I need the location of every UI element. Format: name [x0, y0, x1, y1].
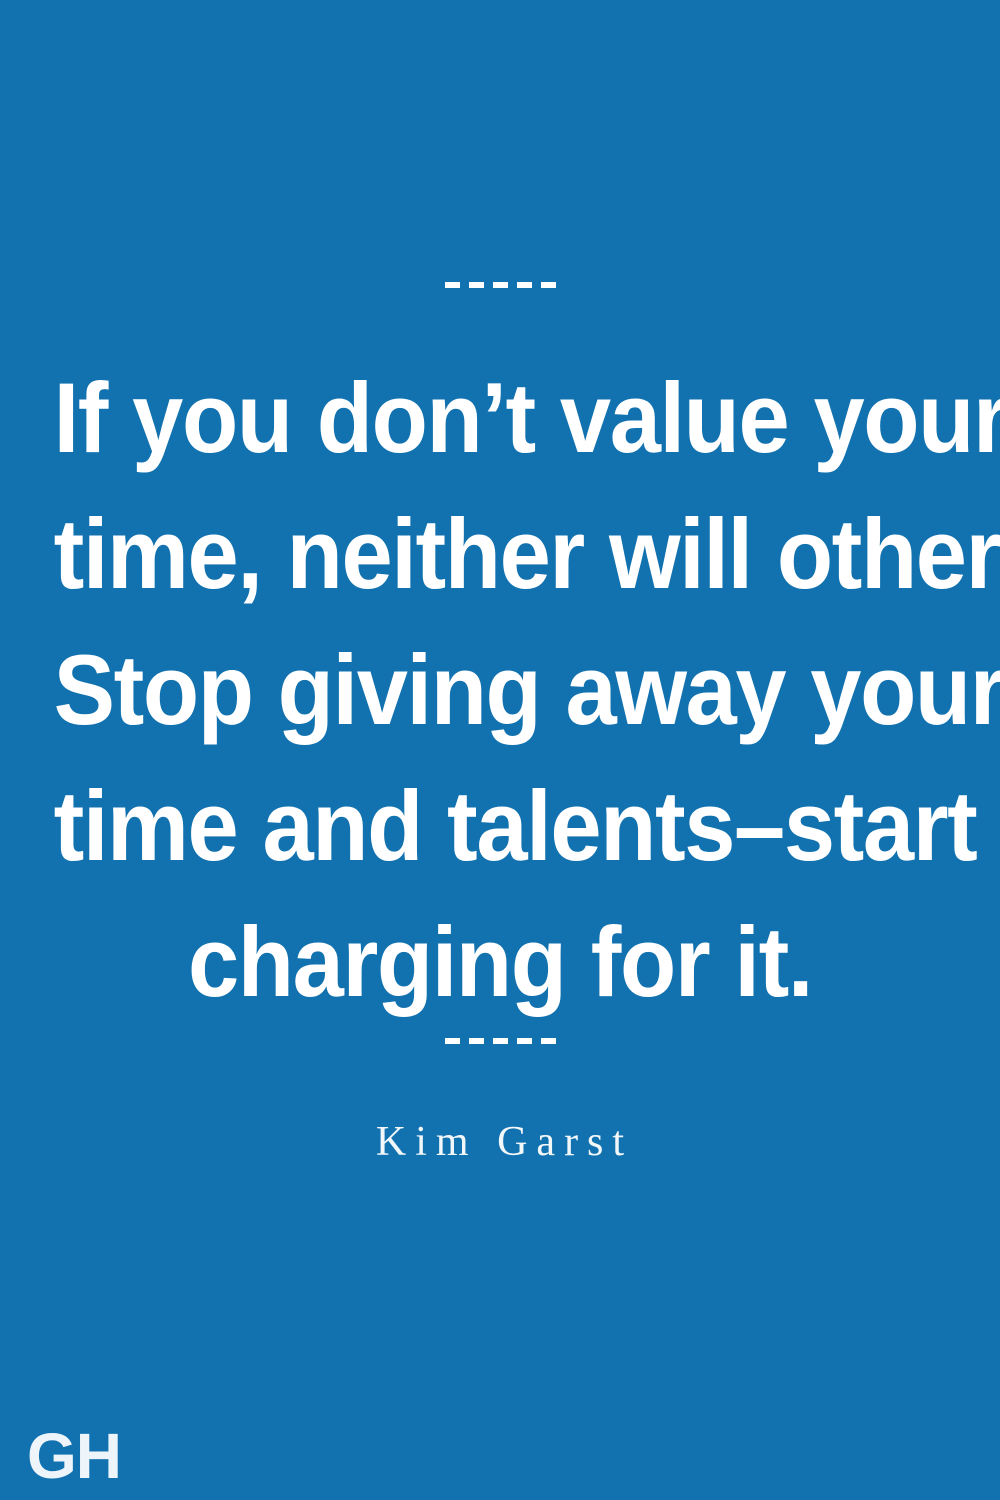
divider-dash [517, 1038, 532, 1044]
divider-dash [493, 282, 508, 288]
gh-logo: GH [27, 1424, 121, 1488]
quote-text: If you don’t value your time, neither wi… [35, 350, 965, 1030]
divider-dash [469, 1038, 484, 1044]
divider-dash [493, 1038, 508, 1044]
divider-dash [445, 1038, 460, 1044]
divider-dash [445, 282, 460, 288]
quote-card: If you don’t value your time, neither wi… [0, 0, 1000, 1500]
dashed-divider-bottom [0, 1038, 1000, 1044]
quote-line: time and talents–start [54, 758, 947, 894]
divider-dash [541, 1038, 556, 1044]
quote-line: If you don’t value your [54, 350, 947, 486]
quote-line: Stop giving away your [54, 622, 947, 758]
divider-dash [517, 282, 532, 288]
divider-dash [469, 282, 484, 288]
quote-attribution: Kim Garst [0, 1116, 1000, 1168]
quote-line: charging for it. [54, 894, 947, 1030]
quote-line: time, neither will others. [54, 486, 947, 622]
dashed-divider-top [0, 282, 1000, 288]
divider-dash [541, 282, 556, 288]
